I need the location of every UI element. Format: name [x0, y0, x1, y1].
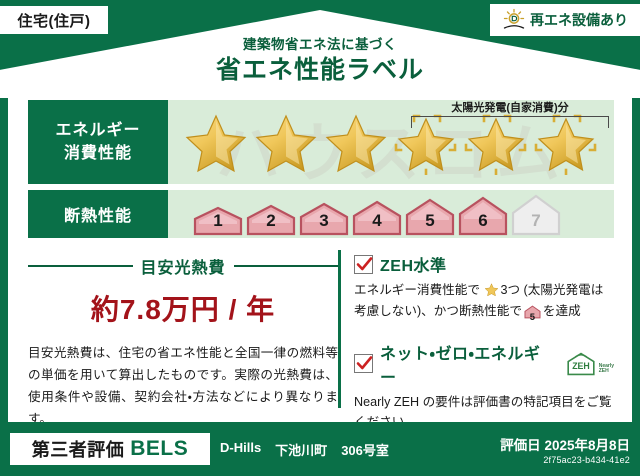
utility-cost-note: 目安光熱費は、住宅の省エネ性能と全国一律の燃料等の単価を用いて算出したものです。…	[28, 342, 338, 430]
inline-house-badge: 5	[524, 305, 541, 326]
zeh-standard-body-part3: を達成	[543, 304, 581, 318]
insulation-level-7: 7	[510, 194, 562, 236]
insulation-level-6: 6	[457, 196, 509, 236]
bels-jp-label: 第三者評価	[32, 436, 125, 462]
sun-icon	[502, 8, 526, 32]
insulation-label: 断熱性能	[64, 202, 132, 226]
energy-performance-label: 住宅(住戸) 再エネ設備あり 建築物省エネ法に基づく 省エネ性能ラベル	[0, 0, 640, 476]
star-filled	[182, 109, 250, 175]
renewable-badge-label: 再エネ設備あり	[530, 10, 628, 30]
zeh-standard-title-row: ZEH水準	[354, 252, 614, 276]
utility-cost-heading-label: 目安光熱費	[141, 254, 226, 278]
title-main: 省エネ性能ラベル	[0, 55, 640, 86]
lower-content: 目安光熱費 約7.8万円 / 年 目安光熱費は、住宅の省エネ性能と全国一律の燃料…	[28, 248, 614, 412]
net-zero-checkbox[interactable]	[354, 354, 373, 373]
evaluation-date: 評価日 2025年8月8日	[500, 434, 630, 454]
zeh-standard-body-part1: エネルギー消費性能で	[354, 283, 480, 297]
utility-cost-value: 約7.8万円 / 年	[28, 288, 338, 328]
property-name: D-Hills	[220, 440, 261, 459]
zeh-standard-title: ZEH水準	[380, 252, 447, 276]
insulation-level-3: 3	[298, 202, 350, 236]
zeh-standard-block: ZEH水準 エネルギー消費性能で 3つ (太陽光発電は考慮しない)、かつ断熱性能…	[354, 252, 614, 326]
utility-cost-heading: 目安光熱費	[28, 254, 338, 278]
insulation-level-5: 5	[404, 198, 456, 236]
label-header: 住宅(住戸) 再エネ設備あり 建築物省エネ法に基づく 省エネ性能ラベル	[0, 0, 640, 98]
energy-star-rating-area: ハウスコム 太陽光発電(自家消費)分	[168, 100, 614, 184]
insulation-level-5-number: 5	[404, 211, 456, 231]
solar-bracket-caption: 太陽光発電(自家消費)分	[401, 99, 619, 115]
heading-rule-right	[234, 265, 339, 267]
insulation-level-4-number: 4	[351, 211, 403, 231]
insulation-level-4: 4	[351, 200, 403, 236]
insulation-level-7-number: 7	[510, 211, 562, 231]
zeh-logo-sub-line2: ZEH	[599, 368, 609, 374]
insulation-level-2: 2	[245, 204, 297, 236]
star-filled	[252, 109, 320, 175]
energy-performance-row: エネルギー 消費性能 ハウスコム 太陽光発電(自家消費)分	[28, 100, 614, 184]
column-divider	[338, 250, 341, 408]
category-badge: 住宅(住戸)	[0, 6, 108, 34]
zeh-logo: ZEH Nearly ZEH	[565, 351, 614, 377]
insulation-level-2-number: 2	[245, 211, 297, 231]
energy-label-line2: 消費性能	[64, 142, 132, 165]
label-footer: 第三者評価 BELS D-Hills 下池川町 306号室 評価日 2025年8…	[0, 422, 640, 476]
insulation-level-area: 1 2 3	[168, 190, 614, 238]
energy-label-line1: エネルギー	[55, 119, 140, 142]
net-zero-title-row: ネット・ゼロ・エネルギー ZEH Nearly ZEH	[354, 340, 614, 388]
bels-badge: 第三者評価 BELS	[10, 433, 210, 465]
insulation-level-1-number: 1	[192, 211, 244, 231]
property-district: 下池川町	[275, 440, 327, 459]
renewable-energy-badge: 再エネ設備あり	[490, 4, 640, 36]
property-address: D-Hills 下池川町 306号室	[220, 440, 389, 459]
utility-cost-section: 目安光熱費 約7.8万円 / 年 目安光熱費は、住宅の省エネ性能と全国一律の燃料…	[28, 248, 338, 412]
property-room: 306号室	[341, 440, 389, 459]
insulation-level-1: 1	[192, 206, 244, 236]
evaluation-id: 2f75ac23-b434-41e2	[500, 455, 630, 465]
star-filled	[322, 109, 390, 175]
inline-star-icon	[484, 282, 499, 297]
check-icon	[356, 256, 373, 273]
check-icon	[356, 355, 373, 372]
solar-bracket	[411, 116, 609, 128]
inline-house-level: 5	[524, 310, 541, 326]
zeh-section: ZEH水準 エネルギー消費性能で 3つ (太陽光発電は考慮しない)、かつ断熱性能…	[338, 248, 614, 412]
label-body-panel: エネルギー 消費性能 ハウスコム 太陽光発電(自家消費)分	[8, 88, 632, 422]
category-badge-label: 住宅(住戸)	[18, 10, 91, 31]
title-subtitle: 建築物省エネ法に基づく	[0, 36, 640, 54]
insulation-level-group: 1 2 3	[168, 192, 562, 236]
zeh-standard-body: エネルギー消費性能で 3つ (太陽光発電は考慮しない)、かつ断熱性能で 5を達成	[354, 280, 614, 326]
insulation-level-6-number: 6	[457, 211, 509, 231]
zeh-logo-subtext: Nearly ZEH	[599, 364, 614, 377]
zeh-standard-checkbox[interactable]	[354, 255, 373, 274]
insulation-label-box: 断熱性能	[28, 190, 168, 238]
bels-en-label: BELS	[130, 437, 188, 461]
label-title-block: 建築物省エネ法に基づく 省エネ性能ラベル	[0, 36, 640, 86]
insulation-performance-row: 断熱性能 1	[28, 190, 614, 238]
svg-text:ZEH: ZEH	[572, 360, 590, 370]
net-zero-energy-block: ネット・ゼロ・エネルギー ZEH Nearly ZEH	[354, 340, 614, 434]
net-zero-title: ネット・ゼロ・エネルギー	[380, 340, 556, 388]
energy-performance-label-box: エネルギー 消費性能	[28, 100, 168, 184]
evaluation-info: 評価日 2025年8月8日 2f75ac23-b434-41e2	[500, 434, 630, 465]
zeh-house-logo-icon: ZEH	[565, 351, 597, 377]
heading-rule-left	[28, 265, 133, 267]
insulation-level-3-number: 3	[298, 211, 350, 231]
